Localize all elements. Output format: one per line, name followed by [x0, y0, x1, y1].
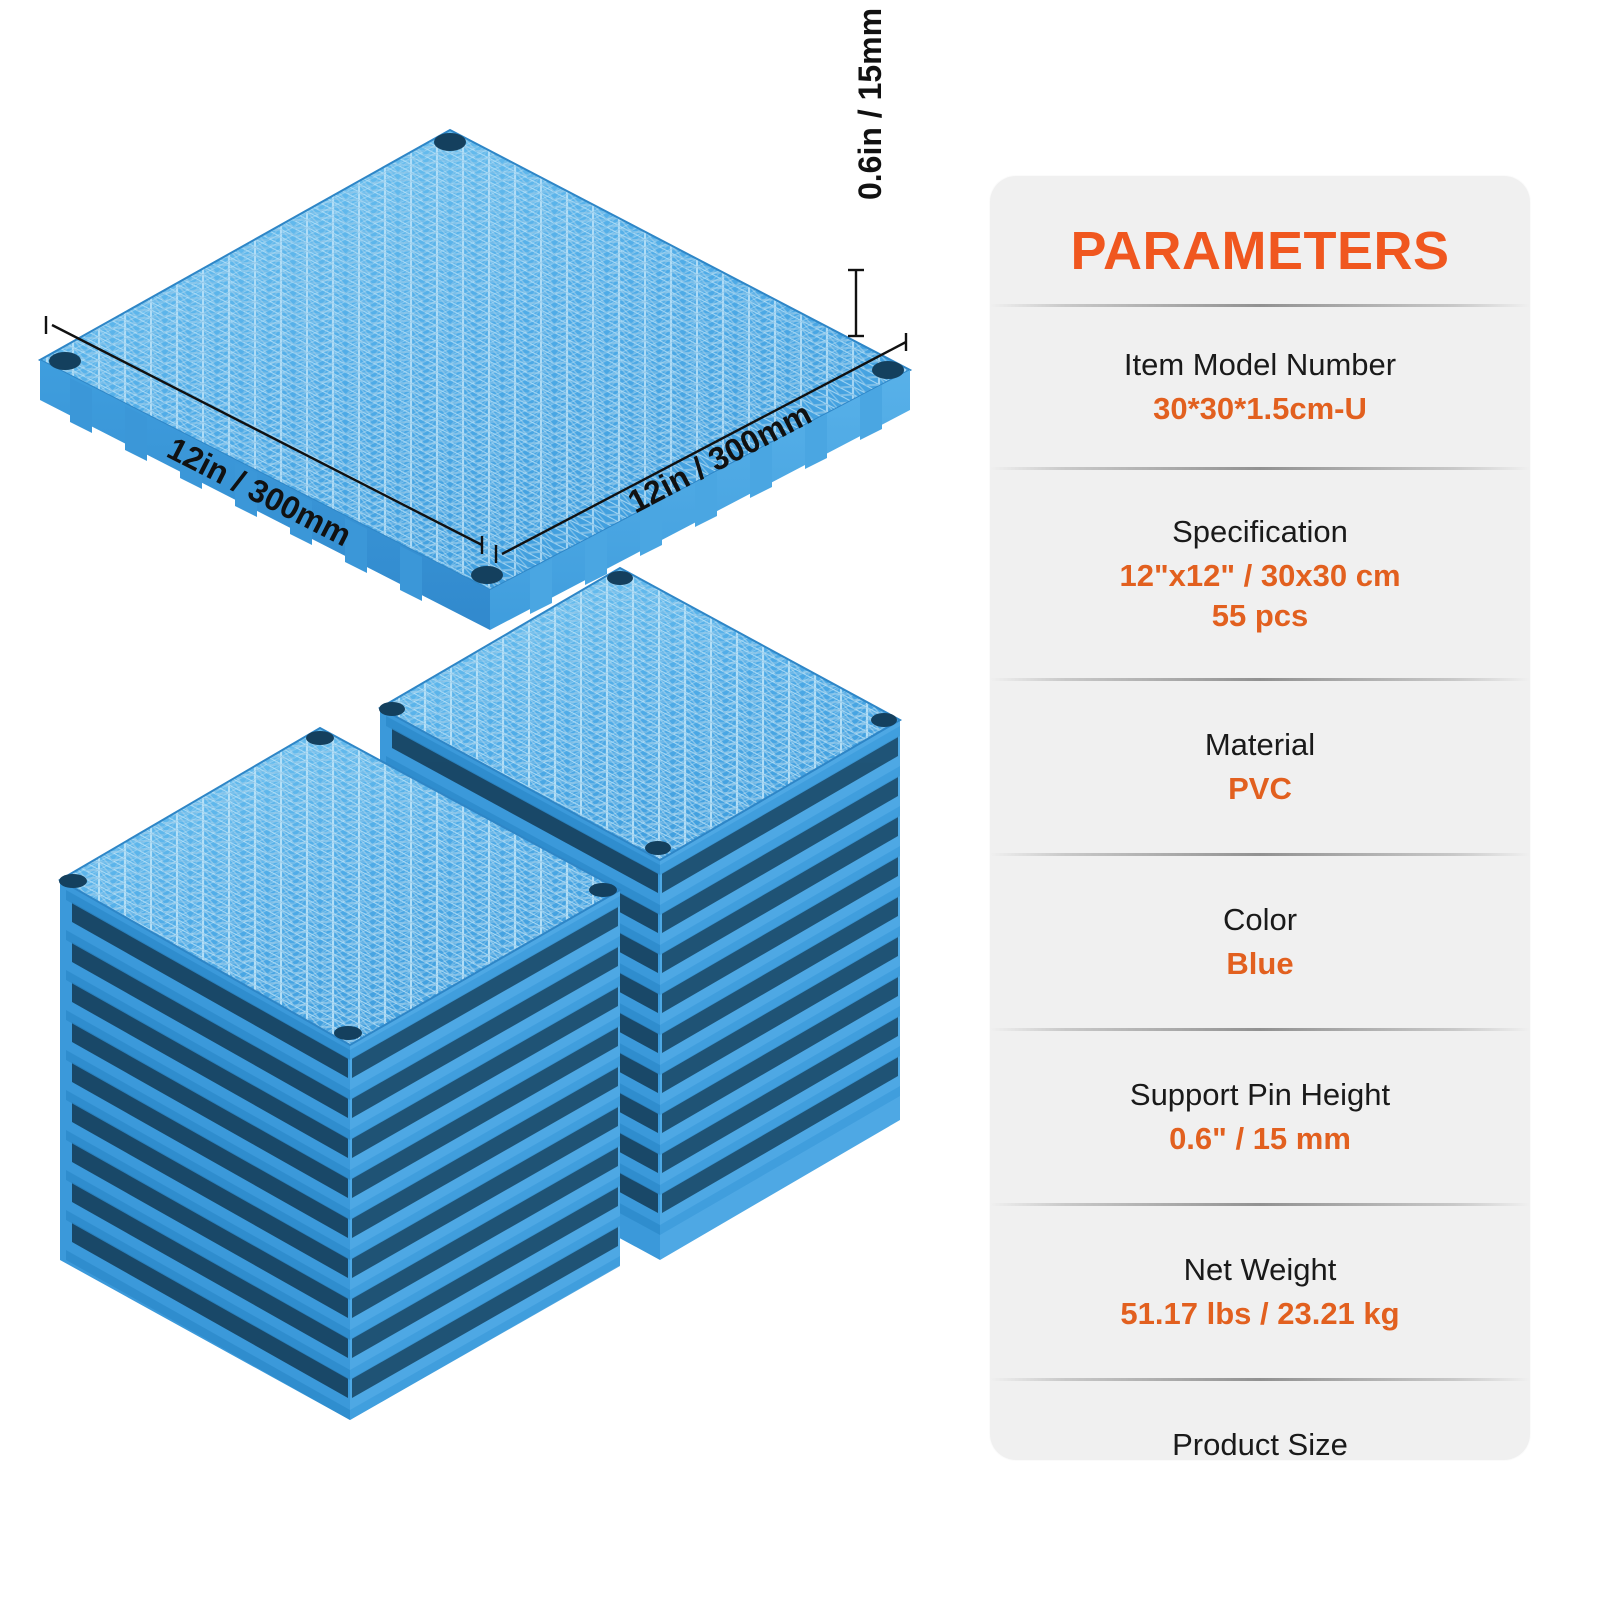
parameter-label: Material: [1205, 725, 1315, 765]
parameter-row: Specification 12"x12" / 30x30 cm 55 pcs: [990, 470, 1530, 678]
parameter-row: Net Weight 51.17 lbs / 23.21 kg: [990, 1206, 1530, 1378]
parameter-label: Support Pin Height: [1130, 1075, 1390, 1115]
tile-stack-front: [40, 720, 680, 1460]
dimension-label-height: 0.6in / 15mm: [852, 8, 889, 200]
parameter-value: 0.6" / 15 mm: [1169, 1119, 1351, 1159]
parameter-value-line: 12"x12" / 30x30 cm: [1119, 556, 1400, 596]
parameter-value-line: PVC: [1228, 769, 1292, 809]
parameter-label: Item Model Number: [1124, 345, 1396, 385]
parameter-value-line: 0.6" / 15 mm: [1169, 1119, 1351, 1159]
parameter-value-line: Blue: [1226, 944, 1293, 984]
parameter-value-line: 55 pcs: [1119, 596, 1400, 636]
parameter-row: Support Pin Height 0.6" / 15 mm: [990, 1031, 1530, 1203]
product-illustration: 12in / 300mm 12in / 300mm 0.6in / 15mm: [0, 0, 960, 1600]
panel-title: PARAMETERS: [990, 176, 1530, 304]
product-spec-sheet: 12in / 300mm 12in / 300mm 0.6in / 15mm: [0, 0, 1600, 1600]
parameter-value-line: 51.17 lbs / 23.21 kg: [1120, 1294, 1399, 1334]
parameter-label: Product Size: [1172, 1425, 1348, 1460]
parameter-row: Color Blue: [990, 856, 1530, 1028]
parameter-value: 30*30*1.5cm-U: [1153, 389, 1367, 429]
parameter-row: Material PVC: [990, 681, 1530, 853]
parameter-value: 51.17 lbs / 23.21 kg: [1120, 1294, 1399, 1334]
parameter-row: Item Model Number 30*30*1.5cm-U: [990, 307, 1530, 467]
parameter-label: Color: [1223, 900, 1297, 940]
parameters-panel: PARAMETERS Item Model Number 30*30*1.5cm…: [990, 176, 1530, 1460]
parameter-row: Product Size 12 x 12 x 0.6 in: [990, 1381, 1530, 1460]
parameter-value: Blue: [1226, 944, 1293, 984]
parameter-label: Net Weight: [1184, 1250, 1337, 1290]
parameter-value: PVC: [1228, 769, 1292, 809]
parameter-value: 12"x12" / 30x30 cm 55 pcs: [1119, 556, 1400, 635]
parameter-value-line: 30*30*1.5cm-U: [1153, 389, 1367, 429]
parameter-label: Specification: [1172, 512, 1348, 552]
